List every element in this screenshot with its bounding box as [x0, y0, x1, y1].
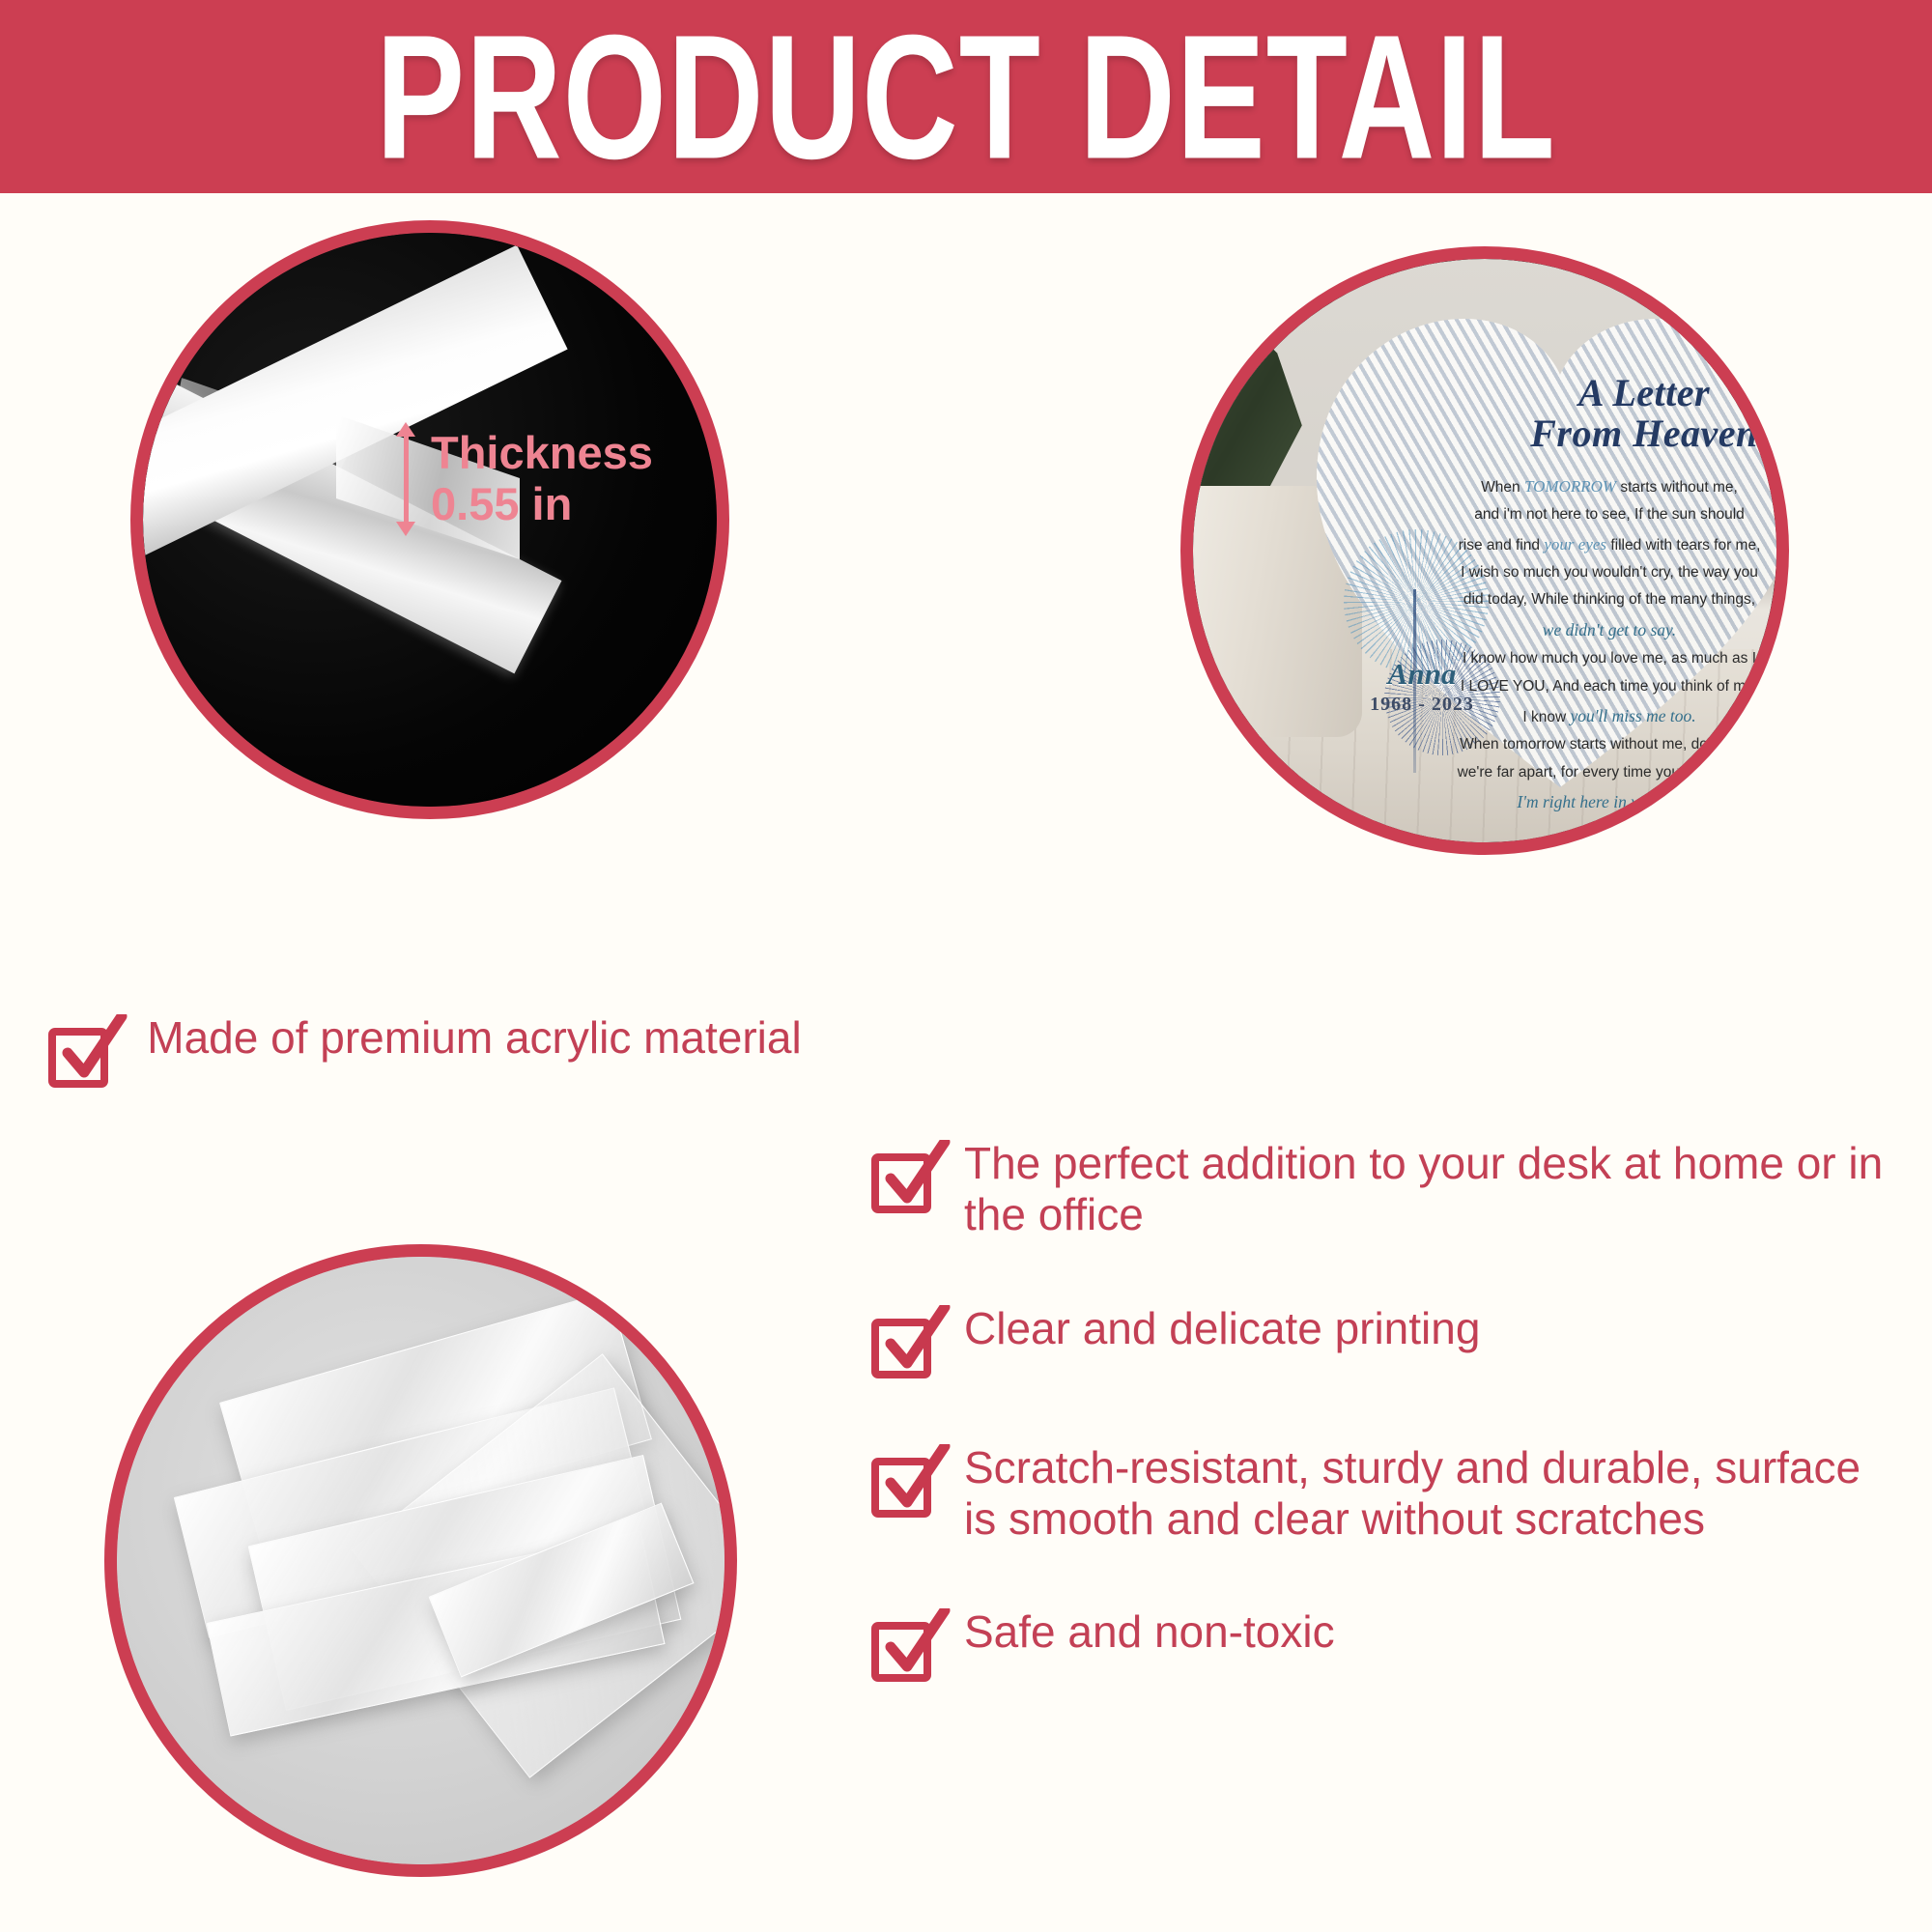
checkbox-checked-icon	[46, 1018, 118, 1090]
feature-perfect-addition: The perfect addition to your desk at hom…	[869, 1136, 1903, 1241]
poem-line: rise and find your eyes filled with tear…	[1413, 529, 1776, 559]
feature-label: Made of premium acrylic material	[141, 1012, 808, 1064]
poem-line: When TOMORROW starts without me,	[1413, 471, 1776, 501]
plaque-title-line2: From Heaven	[1485, 413, 1776, 454]
checkbox-checked-icon	[869, 1448, 941, 1520]
feature-label: Safe and non-toxic	[964, 1605, 1335, 1658]
thickness-label-line1: Thickness	[431, 428, 653, 479]
feature-list: The perfect addition to your desk at hom…	[869, 1136, 1903, 1684]
poem-line: we didn't get to say.	[1413, 614, 1776, 645]
product-detail-page: PRODUCT DETAIL Thickness 0.55 in	[0, 0, 1932, 1932]
page-title: PRODUCT DETAIL	[376, 9, 1556, 185]
feature-label: Scratch-resistant, sturdy and durable, s…	[964, 1440, 1903, 1546]
plaque-title-line1: A Letter	[1485, 373, 1776, 413]
checkbox-checked-icon	[869, 1144, 941, 1215]
feature-safe-non-toxic: Safe and non-toxic	[869, 1605, 1903, 1684]
double-arrow-vertical-icon	[396, 422, 415, 536]
poem-line: I wish so much you wouldn't cry, the way…	[1413, 559, 1776, 586]
plaque-poem: When TOMORROW starts without me, and i'm…	[1413, 471, 1776, 817]
photo-acrylic-blanks	[104, 1244, 737, 1877]
thickness-label-line2: 0.55 in	[431, 479, 653, 530]
feature-label: The perfect addition to your desk at hom…	[964, 1136, 1903, 1241]
checkbox-checked-icon	[869, 1309, 941, 1380]
poem-line: did today, While thinking of the many th…	[1413, 586, 1776, 613]
poem-line: we're far apart, for every time you thin…	[1413, 759, 1776, 786]
feature-made-of-premium-acrylic: Made of premium acrylic material	[46, 1012, 916, 1090]
poem-line: and i'm not here to see, If the sun shou…	[1413, 501, 1776, 528]
thickness-label: Thickness 0.55 in	[431, 428, 653, 529]
personalization-name: Anna	[1330, 659, 1514, 689]
feature-clear-printing: Clear and delicate printing	[869, 1301, 1903, 1380]
personalization-block: Anna 1968 - 2023	[1330, 659, 1514, 716]
personalization-dates: 1968 - 2023	[1330, 694, 1514, 716]
poem-line: I'm right here in your heart	[1413, 786, 1776, 817]
photo-thickness-closeup: Thickness 0.55 in	[130, 220, 729, 819]
checkbox-checked-icon	[869, 1612, 941, 1684]
feature-label: Clear and delicate printing	[964, 1301, 1480, 1354]
poem-line: When tomorrow starts without me, don't t…	[1413, 731, 1776, 758]
plaque-title: A Letter From Heaven	[1485, 373, 1776, 455]
heart-photo-inner: A Letter From Heaven When TOMORROW start…	[1193, 259, 1776, 842]
thickness-photo-inner: Thickness 0.55 in	[143, 233, 717, 807]
thickness-annotation: Thickness 0.55 in	[396, 422, 653, 536]
feature-scratch-resistant: Scratch-resistant, sturdy and durable, s…	[869, 1440, 1903, 1546]
blanks-photo-inner	[117, 1257, 724, 1864]
photo-heart-plaque: A Letter From Heaven When TOMORROW start…	[1180, 246, 1789, 855]
heart-acrylic-plaque: A Letter From Heaven When TOMORROW start…	[1309, 299, 1776, 802]
header-banner: PRODUCT DETAIL	[0, 0, 1932, 193]
